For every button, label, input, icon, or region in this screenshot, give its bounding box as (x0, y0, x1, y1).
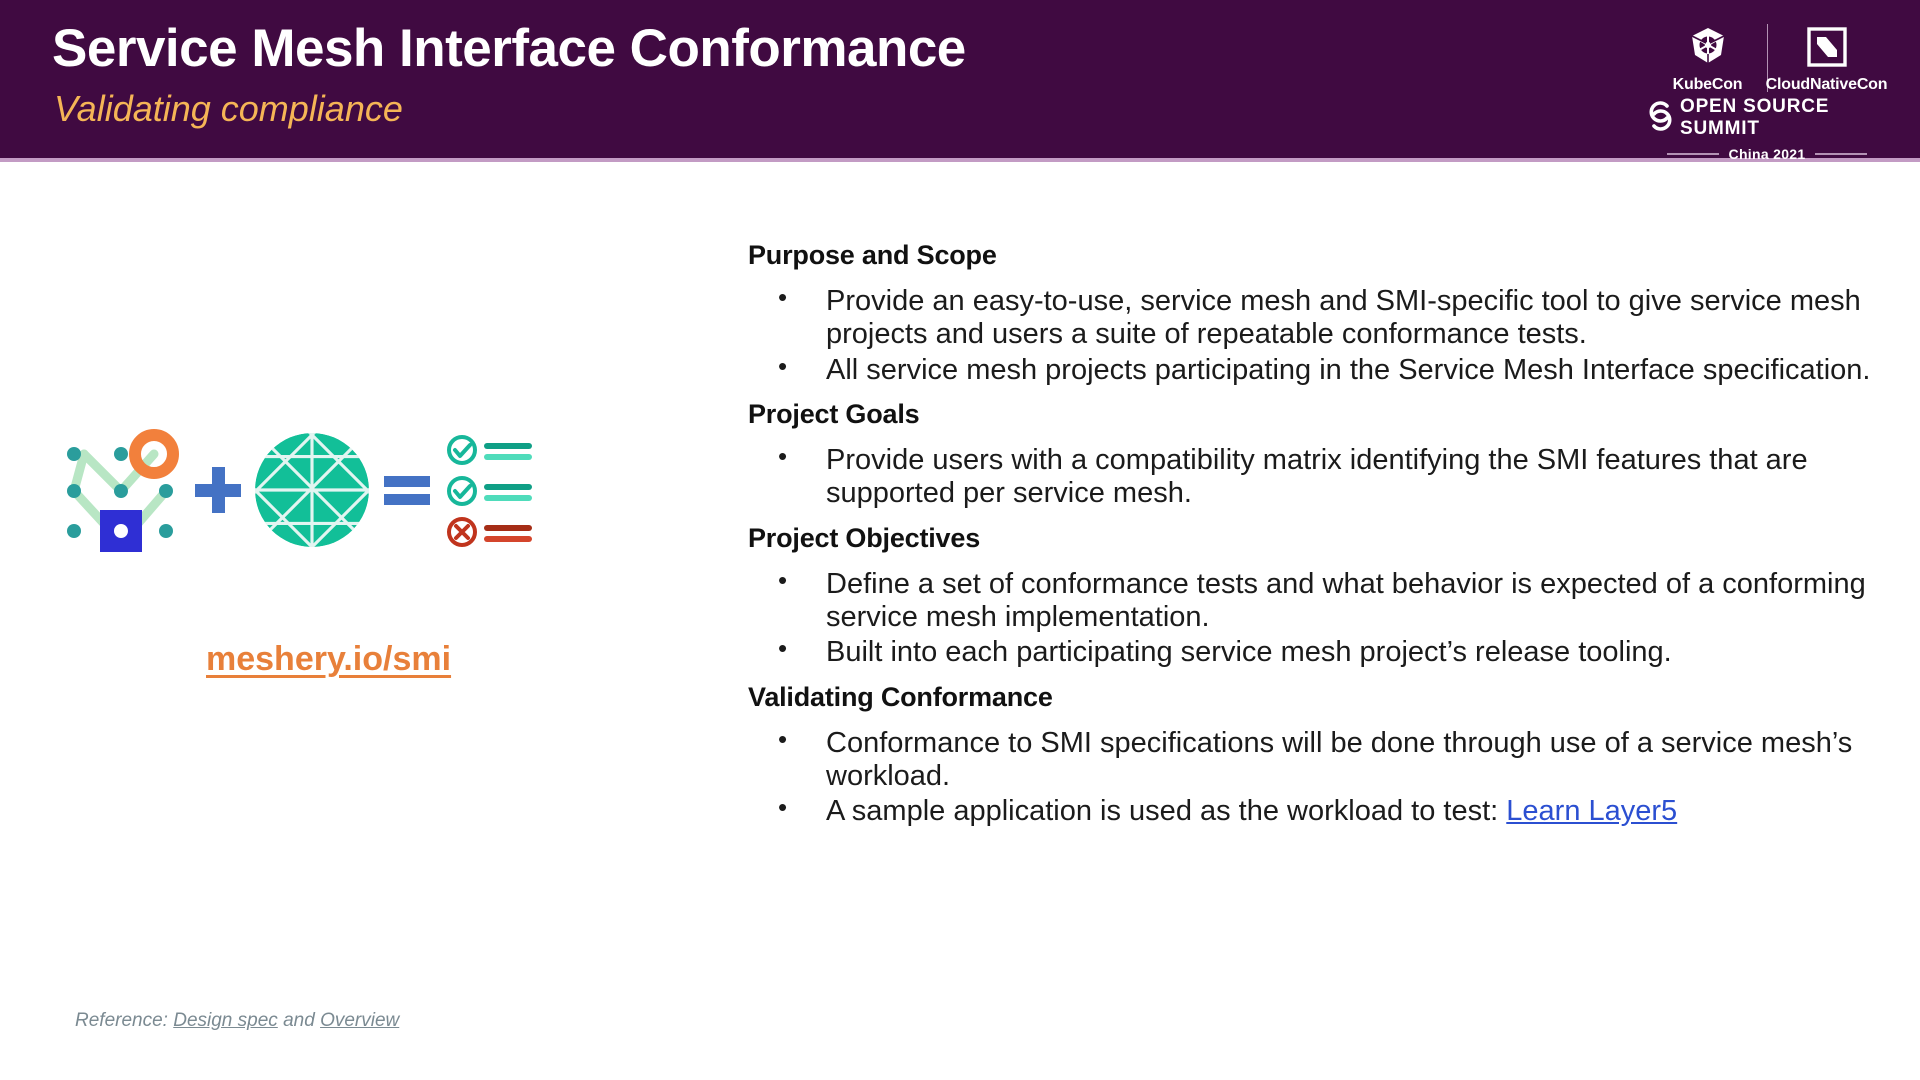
bullet-list: Conformance to SMI specifications will b… (752, 727, 1878, 829)
reference-footer: Reference: Design spec and Overview (75, 1010, 399, 1032)
cloudnativecon-brand: CloudNativeCon (1772, 24, 1882, 94)
rule-left (1667, 153, 1719, 155)
list-item-text: A sample application is used as the work… (826, 795, 1506, 827)
page-subtitle: Validating compliance (54, 88, 403, 130)
slide-header: Service Mesh Interface Conformance Valid… (0, 0, 1920, 162)
section-heading: Purpose and Scope (748, 240, 1878, 271)
cloudnativecon-label: CloudNativeCon (1766, 76, 1888, 94)
section-project-objectives: Project Objectives Define a set of confo… (748, 523, 1878, 670)
summit-label: OPEN SOURCE SUMMIT (1680, 96, 1892, 140)
section-heading: Validating Conformance (748, 682, 1878, 713)
bullet-list: Provide an easy-to-use, service mesh and… (752, 285, 1878, 387)
meshery-smi-link[interactable]: meshery.io/smi (206, 640, 451, 679)
meshery-logo-icon (58, 428, 183, 553)
cncf-square-icon (1806, 24, 1848, 70)
section-validating-conformance: Validating Conformance Conformance to SM… (748, 682, 1878, 829)
plus-sign-icon (183, 464, 253, 516)
list-item: Built into each participating service me… (752, 636, 1878, 669)
kubernetes-helm-icon (1686, 24, 1730, 70)
overview-link[interactable]: Overview (320, 1010, 399, 1031)
reference-prefix: Reference: (75, 1010, 173, 1031)
conformance-results-icon (443, 435, 539, 545)
kubecon-brand: KubeCon (1653, 24, 1763, 94)
rule-right (1815, 153, 1867, 155)
smi-mesh-sphere-icon (253, 431, 371, 549)
equation-graphic (40, 400, 680, 580)
event-logo-lockup: KubeCon CloudNativeCon (1642, 8, 1892, 156)
bullet-list: Provide users with a compatibility matri… (752, 444, 1878, 511)
summit-row: OPEN SOURCE SUMMIT (1642, 96, 1892, 140)
list-item: Provide an easy-to-use, service mesh and… (752, 285, 1878, 352)
design-spec-link[interactable]: Design spec (173, 1010, 278, 1031)
pass-row-2 (449, 478, 532, 504)
learn-layer5-link[interactable]: Learn Layer5 (1506, 795, 1677, 827)
list-item: All service mesh projects participating … (752, 354, 1878, 387)
content-column: Purpose and Scope Provide an easy-to-use… (748, 240, 1878, 841)
list-item: Provide users with a compatibility matri… (752, 444, 1878, 511)
list-item: Define a set of conformance tests and wh… (752, 568, 1878, 635)
list-item: Conformance to SMI specifications will b… (752, 727, 1878, 794)
section-heading: Project Objectives (748, 523, 1878, 554)
location-row: China 2021 (1642, 146, 1892, 162)
section-project-goals: Project Goals Provide users with a compa… (748, 399, 1878, 511)
kubecon-label: KubeCon (1673, 76, 1743, 94)
logo-brand-row: KubeCon CloudNativeCon (1642, 8, 1892, 94)
bullet-list: Define a set of conformance tests and wh… (752, 568, 1878, 670)
equals-sign-icon (371, 470, 443, 510)
reference-conjunction: and (278, 1010, 320, 1031)
pass-row-1 (449, 437, 532, 463)
slide-root: Service Mesh Interface Conformance Valid… (0, 0, 1920, 1080)
page-title: Service Mesh Interface Conformance (52, 18, 966, 79)
section-purpose-and-scope: Purpose and Scope Provide an easy-to-use… (748, 240, 1878, 387)
open-source-summit-s-icon (1642, 97, 1678, 140)
fail-row-1 (449, 519, 532, 545)
section-heading: Project Goals (748, 399, 1878, 430)
location-year-label: China 2021 (1729, 146, 1806, 162)
list-item: A sample application is used as the work… (752, 795, 1878, 828)
